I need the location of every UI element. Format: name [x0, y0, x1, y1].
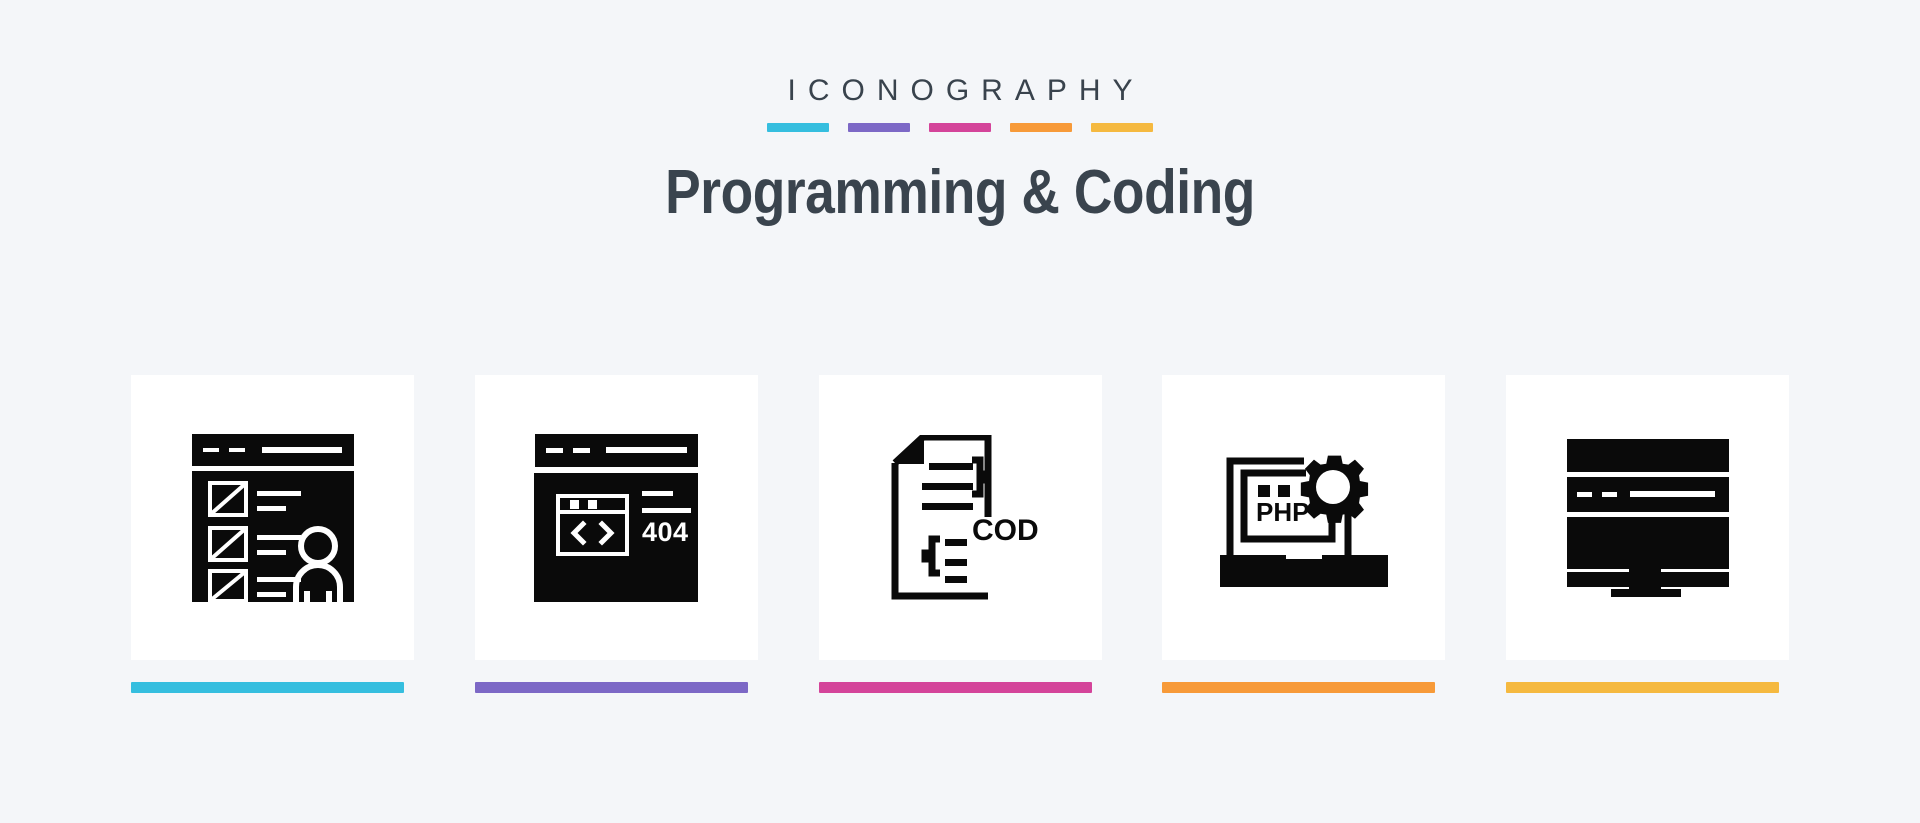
- icon-grid: 404: [131, 375, 1789, 693]
- icon-card[interactable]: [1506, 375, 1789, 660]
- icon-cell-monitor-browser: [1506, 375, 1789, 693]
- icon-cell-webpage-list-user: [131, 375, 414, 693]
- php-laptop-gear-icon: PHP: [1220, 443, 1388, 593]
- cell-accent-bar-purple: [475, 682, 748, 693]
- accent-bar-yellow: [1091, 123, 1153, 132]
- accent-bar-cyan: [767, 123, 829, 132]
- eyebrow-label: ICONOGRAPHY: [0, 76, 1920, 106]
- icon-card[interactable]: PHP: [1162, 375, 1445, 660]
- icon-pack-page: ICONOGRAPHY Programming & Coding: [0, 0, 1920, 823]
- icon-card[interactable]: CODE: [819, 375, 1102, 660]
- cell-accent-bar-pink: [819, 682, 1092, 693]
- icon-cell-code-file: CODE: [819, 375, 1102, 693]
- code-label-text: CODE: [972, 514, 1040, 547]
- monitor-browser-icon: [1565, 439, 1731, 597]
- code-file-icon: CODE: [880, 435, 1040, 601]
- page-header: ICONOGRAPHY Programming & Coding: [0, 0, 1920, 225]
- header-accent-bars: [0, 123, 1920, 132]
- error-code-text: 404: [642, 517, 689, 547]
- accent-bar-orange: [1010, 123, 1072, 132]
- icon-cell-browser-404: 404: [475, 375, 758, 693]
- icon-cell-php-development: PHP: [1162, 375, 1445, 693]
- accent-bar-pink: [929, 123, 991, 132]
- php-label-text: PHP: [1256, 497, 1309, 527]
- accent-bar-purple: [848, 123, 910, 132]
- cell-accent-bar-orange: [1162, 682, 1435, 693]
- cell-accent-bar-yellow: [1506, 682, 1779, 693]
- icon-card[interactable]: [131, 375, 414, 660]
- icon-card[interactable]: 404: [475, 375, 758, 660]
- webpage-list-user-icon: [192, 434, 354, 602]
- browser-404-icon: 404: [534, 434, 698, 602]
- page-title: Programming & Coding: [134, 160, 1785, 225]
- cell-accent-bar-cyan: [131, 682, 404, 693]
